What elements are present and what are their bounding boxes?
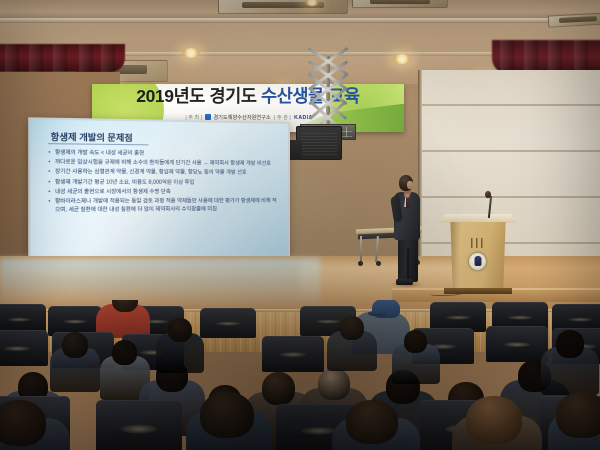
audience-head [318,368,350,400]
audience-head [262,372,295,405]
audience-head [346,400,398,444]
audience-head [112,340,137,365]
podium-top-surface [440,214,516,223]
audience-head [168,318,192,342]
banner-title-year-region: 2019년도 경기도 [136,86,261,106]
audience-head [556,392,600,438]
av-speaker-icon [296,126,342,160]
slide-bullet: 항생제의 개발 속도 < 내성 세균의 출현 [48,150,278,160]
audience-head [556,330,584,358]
banner-organizer-label: | 주 관 | [274,115,291,121]
curtain-valance-left [0,44,125,72]
audience-head [340,316,364,340]
ceiling-downlight-icon [393,54,411,64]
projection-screen: 항생제 개발의 문제점 항생제의 개발 속도 < 내성 세균의 출현 까다로운 … [28,117,290,265]
audience-area [0,300,600,450]
audience-head [466,396,522,444]
microphone-icon [485,191,491,198]
ceiling-vent-icon [352,0,448,8]
auditorium-seat [0,330,48,366]
presenter-head [399,175,413,191]
slide-bullet: 까다로운 임상시험을 규제에 비해 소수의 환자들에게 단기간 사용 → 제약회… [48,159,278,169]
auditorium-seat [486,326,548,362]
audience-head [200,392,254,438]
auditorium-seat [200,308,256,338]
audience-head [404,330,427,353]
auditorium-photo: 2019년도 경기도 수산생물 교육 | 주 최 | 경기도해양수산자원연구소 … [0,0,600,450]
slide-title: 항생제 개발의 문제점 [51,130,133,144]
audience-cap [372,300,400,318]
audience-head [62,332,88,358]
podium-emblem-icon [468,252,487,271]
slide-bullet: 장기간 사용하는 심혈관계 약물, 신경계 약물, 항암제 약물, 항당뇨 등의… [48,169,278,178]
host-logo-icon [205,114,211,120]
auditorium-seat [262,336,324,372]
presentation-slide: 항생제 개발의 문제점 항생제의 개발 속도 < 내성 세균의 출현 까다로운 … [30,119,288,262]
presenter-legs [398,238,418,282]
auditorium-seat [96,400,182,450]
slide-bullet: 항바이러스제나 개발에 적용되는 동일 검토 과정 적용 약제들만 사용에 대한… [48,198,278,215]
slide-bullet: 항생제 개발기간 평균 10년 소요, 비용도 8,000억원 이상 투입 [48,179,278,187]
presenter-shoe [396,279,413,285]
slide-bullet: 내성 세균의 출현으로 시장에서의 항생제 수명 단축 [48,189,278,197]
ceiling-vent-icon [218,0,348,14]
curtain-valance-right [492,40,600,74]
audience-head [0,400,46,446]
slide-bullet-list: 항생제의 개발 속도 < 내성 세균의 출현 까다로운 임상시험을 규제에 비해… [48,150,278,217]
podium-vent-slits [471,238,485,248]
ceiling-downlight-icon [182,48,200,58]
